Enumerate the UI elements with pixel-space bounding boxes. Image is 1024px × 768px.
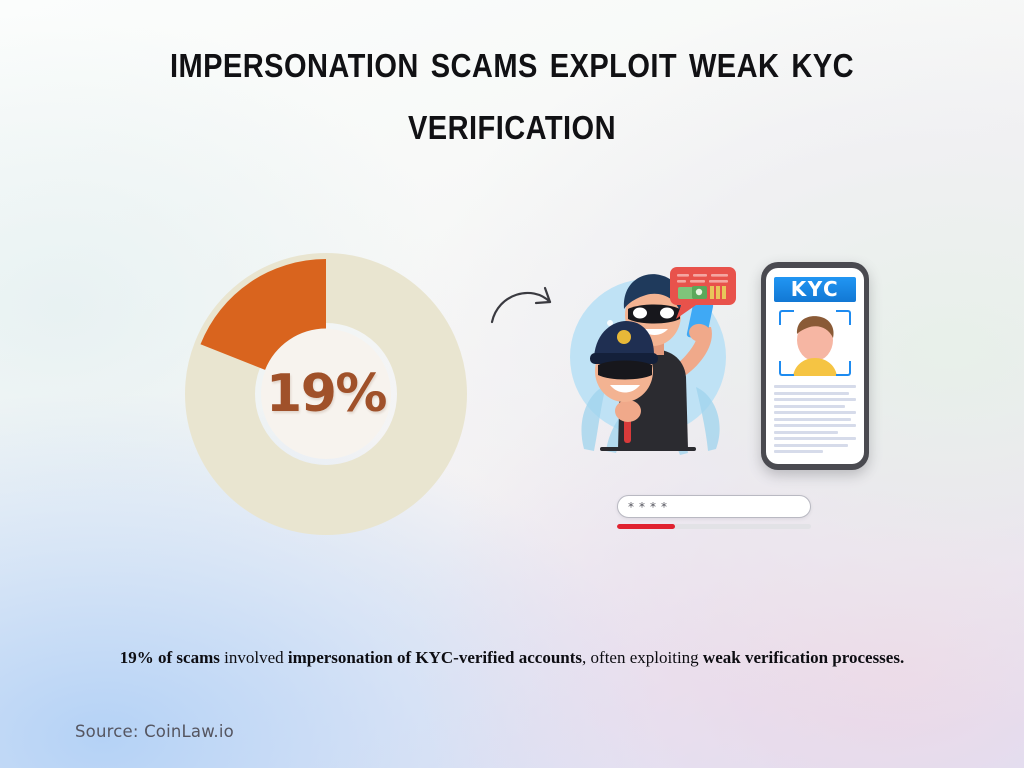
cash-icons	[678, 286, 726, 299]
title-line-2: Verification	[125, 92, 899, 154]
phone-screen: KYC	[766, 268, 864, 464]
donut-chart-svg	[185, 253, 467, 535]
caption-bold-2: impersonation of KYC-verified accounts	[288, 648, 582, 667]
page-title: Impersonation Scams Exploit Weak KYC Ver…	[72, 30, 952, 154]
caption-plain-1: involved	[220, 648, 288, 667]
ground-line	[600, 447, 696, 451]
document-placeholder-lines	[774, 385, 856, 453]
infographic-canvas: Impersonation Scams Exploit Weak KYC Ver…	[0, 0, 1024, 768]
donut-hole	[261, 329, 391, 459]
kyc-phone-mockup: KYC	[761, 262, 869, 470]
scan-corner-tl-icon	[779, 310, 794, 325]
scan-corner-bl-icon	[779, 361, 794, 376]
scammer-illustration	[548, 253, 748, 475]
caption-bold-1: 19% of scams	[120, 648, 220, 667]
face-scan-frame	[779, 310, 851, 376]
password-entry-block	[617, 495, 811, 529]
kyc-banner-label: KYC	[774, 277, 856, 302]
title-line-1: Impersonation Scams Exploit Weak KYC	[125, 30, 899, 92]
source-attribution: Source: CoinLaw.io	[75, 722, 234, 741]
donut-chart: 19%	[185, 253, 467, 535]
password-strength-meter	[617, 524, 811, 529]
password-strength-fill	[617, 524, 675, 529]
scan-corner-tr-icon	[836, 310, 851, 325]
scan-corner-br-icon	[836, 361, 851, 376]
caption-plain-2: , often exploiting	[582, 648, 703, 667]
caption-bold-3: weak verification processes.	[703, 648, 904, 667]
caption-text: 19% of scams involved impersonation of K…	[112, 644, 912, 671]
password-input[interactable]	[617, 495, 811, 518]
